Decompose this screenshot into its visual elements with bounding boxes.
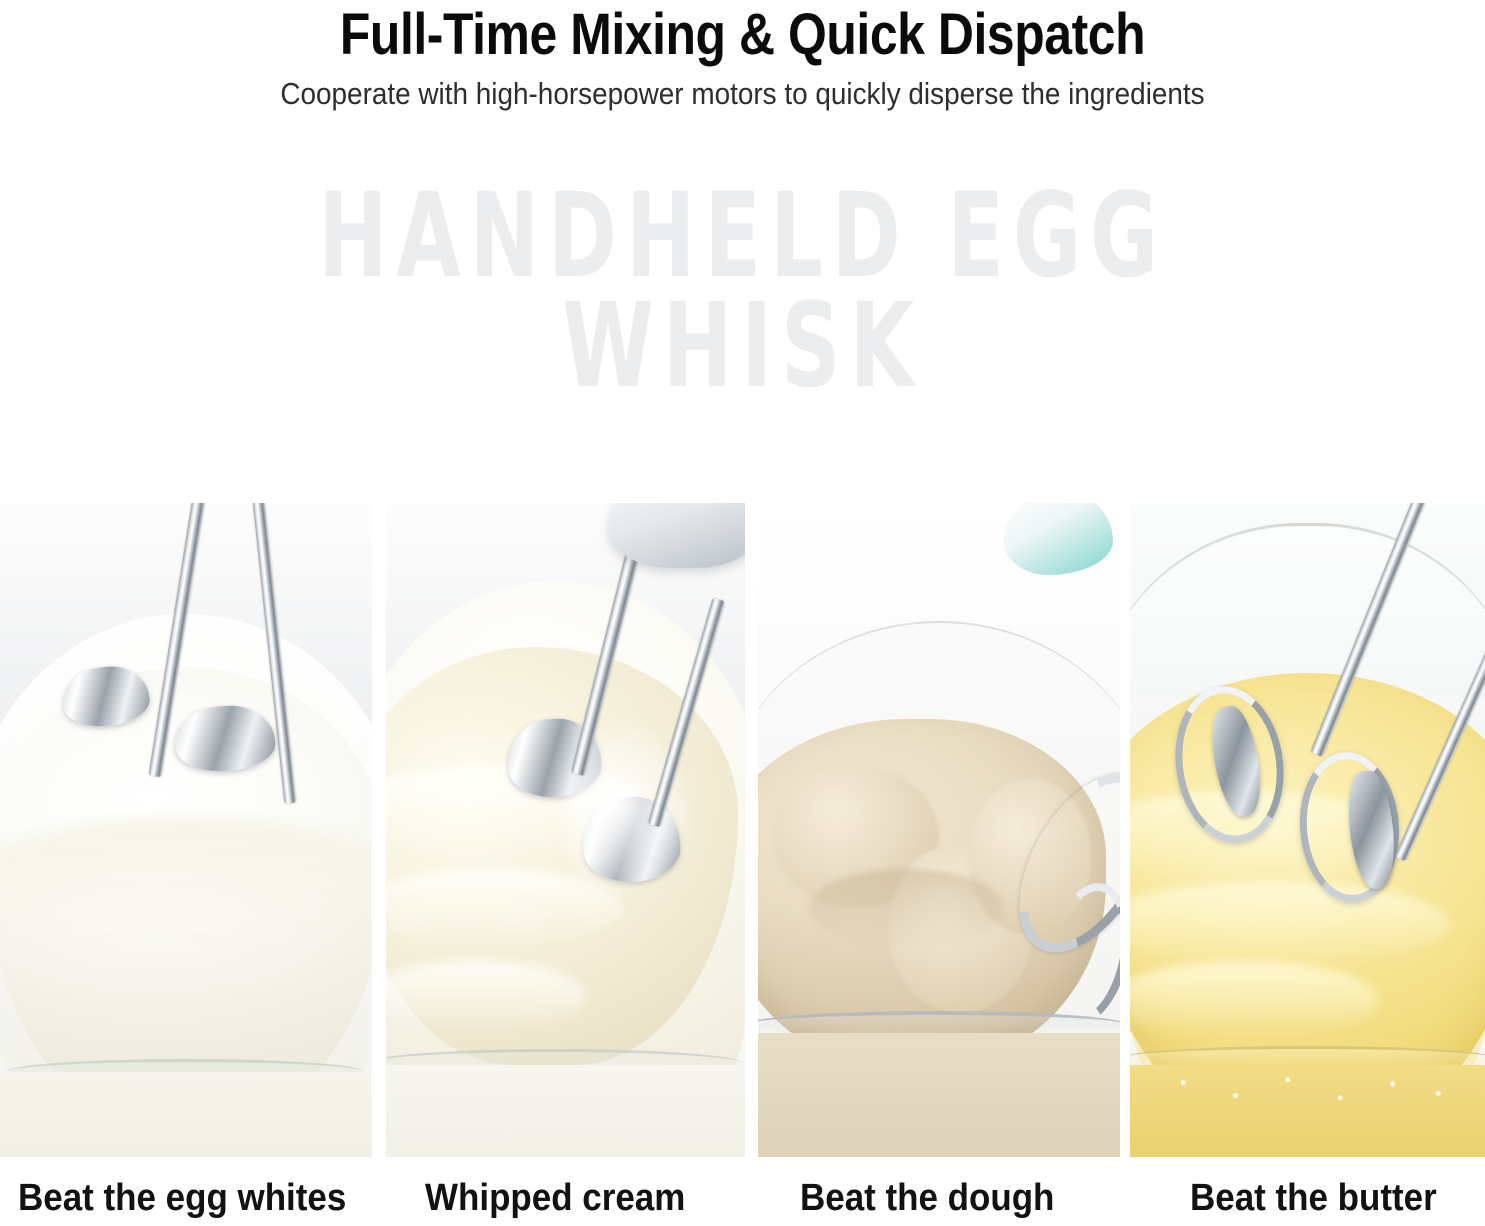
caption-egg-whites: Beat the egg whites bbox=[18, 1176, 346, 1220]
caption-row: Beat the egg whites Whipped cream Beat t… bbox=[0, 1163, 1485, 1226]
caption-whipped-cream: Whipped cream bbox=[425, 1176, 685, 1220]
page-headline: Full-Time Mixing & Quick Dispatch bbox=[104, 4, 1381, 66]
page-subtitle: Cooperate with high-horsepower motors to… bbox=[74, 76, 1411, 112]
bowl-base bbox=[386, 1065, 745, 1157]
foam-swirl bbox=[0, 817, 372, 961]
dough-photo bbox=[758, 503, 1120, 1157]
bowl-base bbox=[0, 1072, 372, 1157]
egg-whites-photo bbox=[0, 503, 372, 1157]
watermark-line-1: HANDHELD EGG bbox=[149, 175, 1337, 296]
photo-panel-egg-whites bbox=[0, 503, 372, 1157]
caption-dough: Beat the dough bbox=[800, 1176, 1054, 1220]
whipped-cream-photo bbox=[386, 503, 745, 1157]
dough-crease bbox=[809, 869, 1004, 947]
photo-panel-dough bbox=[758, 503, 1120, 1157]
photo-gallery bbox=[0, 503, 1485, 1157]
butter-photo bbox=[1130, 503, 1485, 1157]
watermark-line-2: WHISK bbox=[149, 285, 1337, 406]
bowl-base bbox=[758, 1033, 1120, 1157]
photo-panel-butter bbox=[1130, 503, 1485, 1157]
watermark-text: HANDHELD EGG WHISK bbox=[0, 175, 1485, 393]
batter-specks bbox=[1144, 1059, 1471, 1118]
header-block: Full-Time Mixing & Quick Dispatch Cooper… bbox=[0, 0, 1485, 112]
photo-panel-whipped-cream bbox=[386, 503, 745, 1157]
caption-butter: Beat the butter bbox=[1190, 1176, 1437, 1220]
